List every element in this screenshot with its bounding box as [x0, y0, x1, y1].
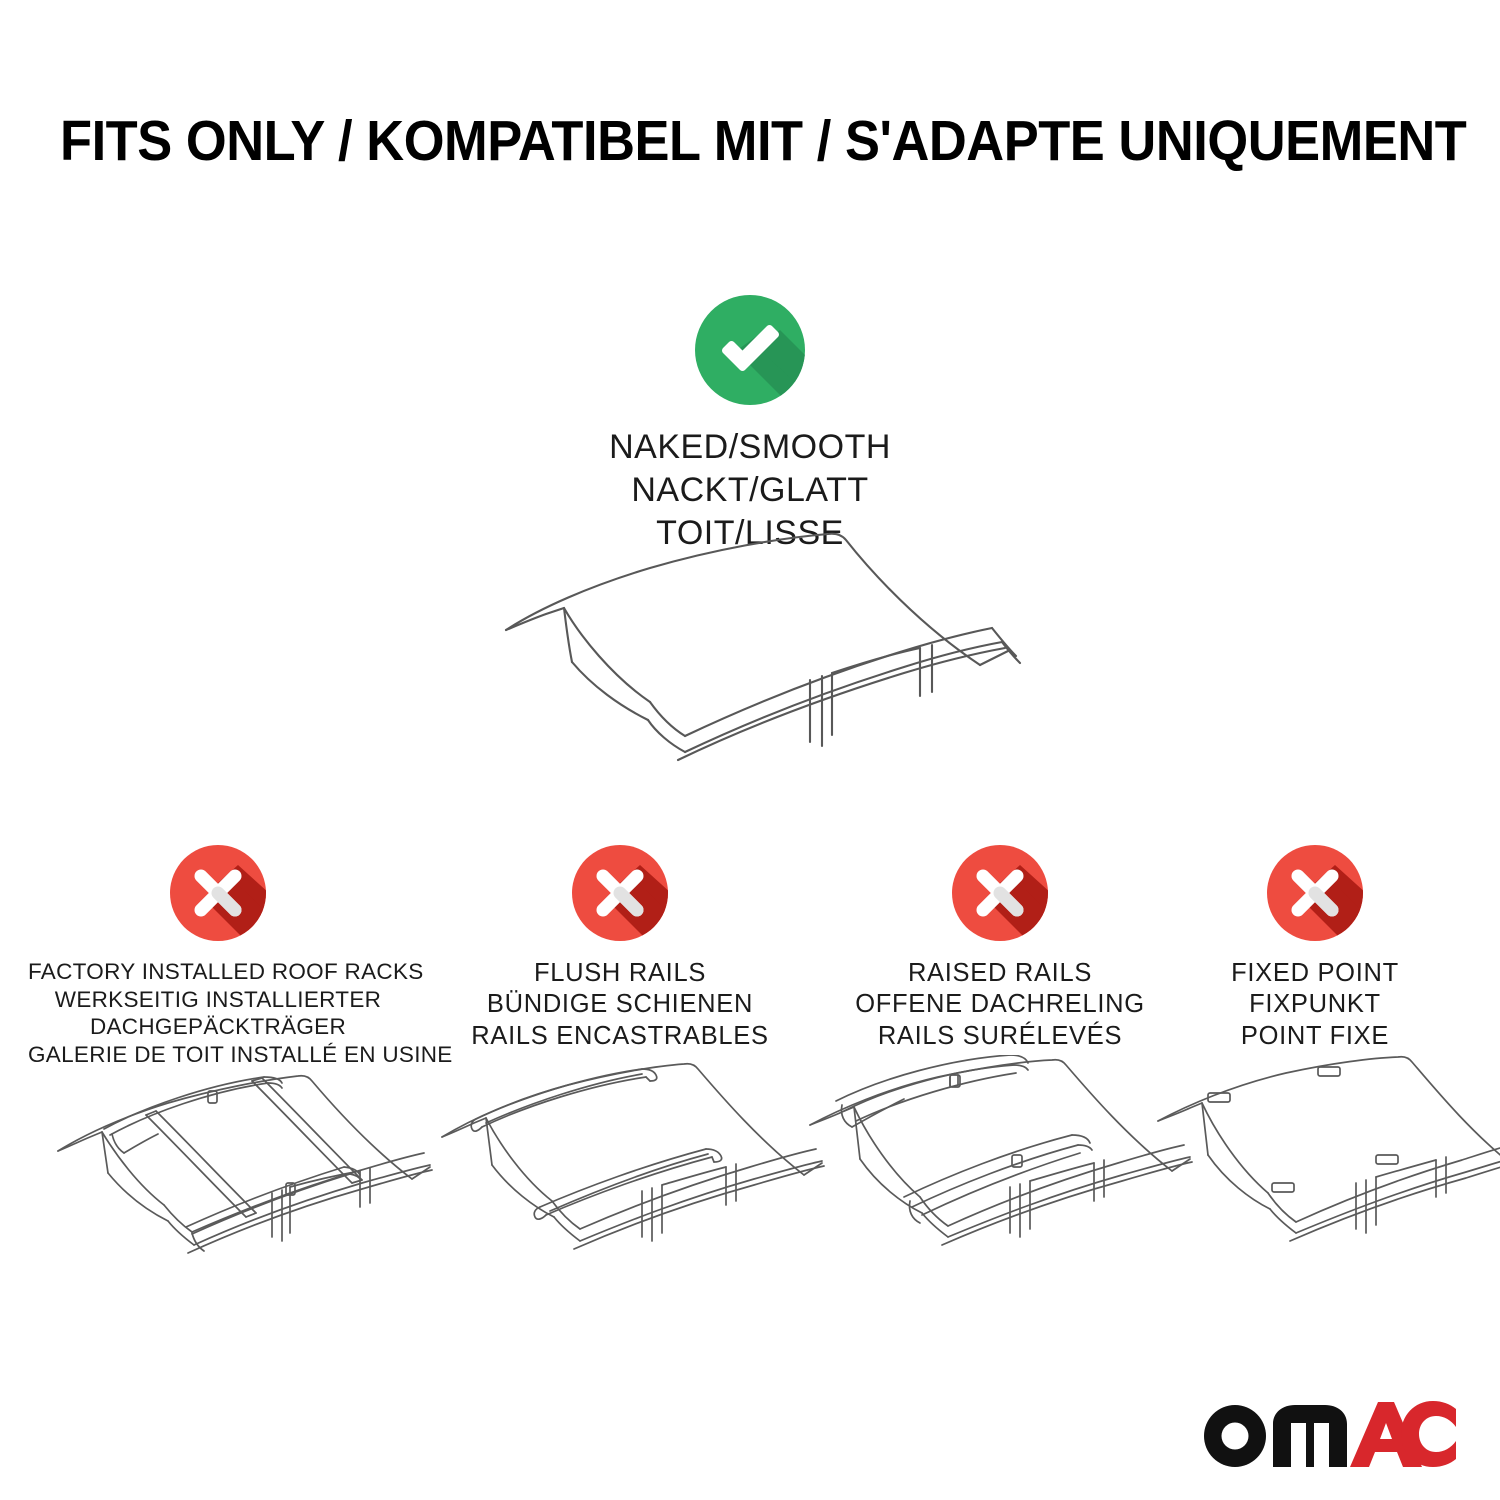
x-circle-icon: [1267, 845, 1363, 941]
approved-label-line-2: NACKT/GLATT: [450, 469, 1050, 512]
denied-column-flush-rails: FLUSH RAILS BÜNDIGE SCHIENEN RAILS ENCAS…: [430, 845, 810, 1052]
logo-letter-o: [1204, 1405, 1266, 1467]
denied-label-1-line-1: FACTORY INSTALLED ROOF RACKS: [28, 958, 408, 986]
x-circle-icon: [572, 845, 668, 941]
page-title: FITS ONLY / KOMPATIBEL MIT / S'ADAPTE UN…: [60, 108, 1440, 174]
omac-logo: [1198, 1398, 1458, 1470]
denied-label-1-line-3: DACHGEPÄCKTRÄGER: [28, 1013, 408, 1041]
denied-label-2-line-3: RAILS ENCASTRABLES: [430, 1021, 810, 1052]
denied-label-4-line-1: FIXED POINT: [1125, 958, 1500, 989]
denied-label-4-line-3: POINT FIXE: [1125, 1021, 1500, 1052]
compatibility-infographic: FITS ONLY / KOMPATIBEL MIT / S'ADAPTE UN…: [0, 0, 1500, 1500]
approved-section: NAKED/SMOOTH NACKT/GLATT TOIT/LISSE: [450, 295, 1050, 554]
denied-column-factory-roof-racks: FACTORY INSTALLED ROOF RACKS WERKSEITIG …: [28, 845, 408, 1069]
denied-label-group-2: FLUSH RAILS BÜNDIGE SCHIENEN RAILS ENCAS…: [430, 958, 810, 1052]
denied-label-2-line-1: FLUSH RAILS: [430, 958, 810, 989]
smooth-roof-illustration: [480, 520, 1040, 810]
denied-label-2-line-2: BÜNDIGE SCHIENEN: [430, 989, 810, 1020]
x-circle-icon: [952, 845, 1048, 941]
denied-label-1-line-2: WERKSEITIG INSTALLIERTER: [28, 986, 408, 1014]
raised-rails-illustration: [800, 1055, 1200, 1290]
logo-letter-m: [1273, 1405, 1347, 1467]
fixed-point-illustration: [1150, 1055, 1500, 1290]
factory-roof-rack-illustration: [40, 1055, 440, 1290]
x-circle-icon: [170, 845, 266, 941]
denied-label-group-1: FACTORY INSTALLED ROOF RACKS WERKSEITIG …: [28, 958, 408, 1069]
approved-label-line-1: NAKED/SMOOTH: [450, 426, 1050, 469]
denied-column-fixed-point: FIXED POINT FIXPUNKT POINT FIXE: [1125, 845, 1500, 1052]
flush-rails-illustration: [430, 1055, 830, 1290]
denied-label-group-4: FIXED POINT FIXPUNKT POINT FIXE: [1125, 958, 1500, 1052]
check-circle-icon: [695, 295, 805, 405]
denied-label-4-line-2: FIXPUNKT: [1125, 989, 1500, 1020]
